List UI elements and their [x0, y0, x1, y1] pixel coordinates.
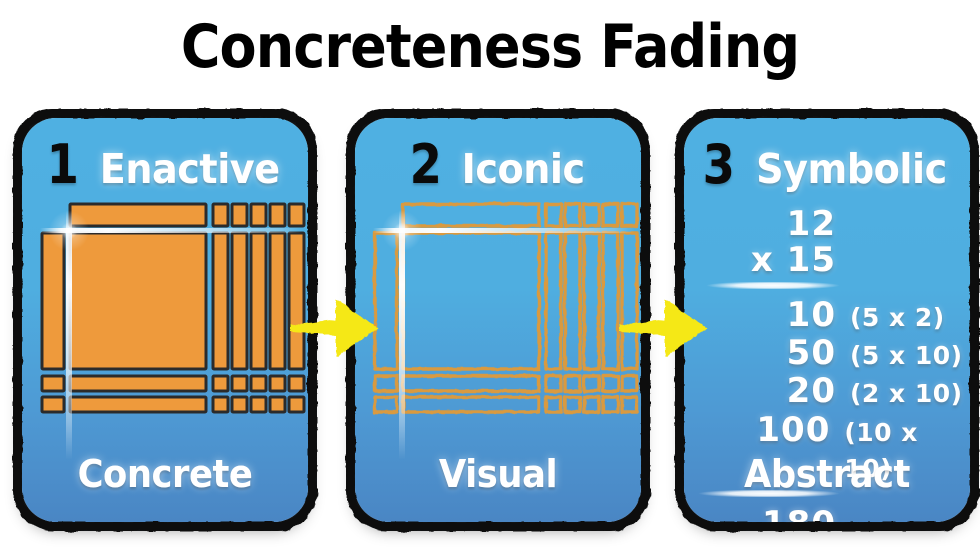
panel-symbolic[interactable]: 12 x 15 10 (5 x 2) 50 (5 x 10)	[684, 118, 970, 522]
algorithm-row-multiplicand: 12	[684, 206, 970, 242]
partial-expression: (10 x 10)	[830, 415, 970, 488]
panel-enactive-header: 1 Enactive	[22, 138, 308, 192]
partial-expression: (2 x 10)	[836, 376, 963, 412]
partial-product-row: 10 (5 x 2)	[684, 297, 970, 336]
step-label-iconic: Iconic	[461, 149, 584, 190]
diagram-canvas: Concreteness Fading	[0, 0, 980, 551]
panel-symbolic-body: 12 x 15 10 (5 x 2) 50 (5 x 10)	[684, 118, 970, 522]
vertical-algorithm: 12 x 15 10 (5 x 2) 50 (5 x 10)	[684, 206, 970, 466]
algorithm-divider-line	[706, 282, 840, 289]
algorithm-row-multiplier: x 15	[684, 242, 970, 278]
partial-expression: (5 x 10)	[836, 338, 963, 374]
multiplier: x 15	[684, 242, 836, 278]
partial-value: 50	[684, 335, 836, 371]
step-label-symbolic: Symbolic	[756, 149, 947, 190]
step-number-1: 1	[46, 138, 78, 192]
algorithm-row-total: 180	[684, 506, 970, 522]
panel-footer-visual: Visual	[365, 452, 631, 496]
area-model-visual	[369, 200, 627, 445]
step-label-enactive: Enactive	[100, 149, 280, 190]
partial-value: 10	[684, 297, 836, 333]
partial-value: 20	[684, 373, 836, 409]
panel-iconic[interactable]: 2 Iconic Visual	[355, 118, 641, 522]
panel-enactive-body: 1 Enactive Concrete	[22, 118, 308, 522]
partial-expression: (5 x 2)	[836, 300, 945, 336]
algorithm-sum-line	[698, 490, 840, 497]
panel-iconic-header: 2 Iconic	[355, 138, 641, 192]
total-value: 180	[684, 506, 836, 522]
panel-iconic-body: 2 Iconic Visual	[355, 118, 641, 522]
panel-symbolic-header: 3 Symbolic	[684, 138, 970, 192]
area-model-concrete	[36, 200, 294, 445]
step-number-2: 2	[410, 138, 442, 192]
partial-product-row: 50 (5 x 10)	[684, 335, 970, 374]
panel-footer-abstract: Abstract	[694, 452, 960, 496]
multiplicand: 12	[684, 206, 836, 242]
step-number-3: 3	[702, 138, 734, 192]
page-title: Concreteness Fading	[49, 16, 931, 79]
partial-products: 10 (5 x 2) 50 (5 x 10) 20 (2 x 10) 100 (…	[684, 297, 970, 487]
partial-product-row: 20 (2 x 10)	[684, 373, 970, 412]
partial-value: 100	[684, 412, 830, 448]
panel-enactive[interactable]: 1 Enactive Concrete	[22, 118, 308, 522]
partial-product-row: 100 (10 x 10)	[684, 412, 970, 488]
panel-footer-concrete: Concrete	[32, 452, 298, 496]
